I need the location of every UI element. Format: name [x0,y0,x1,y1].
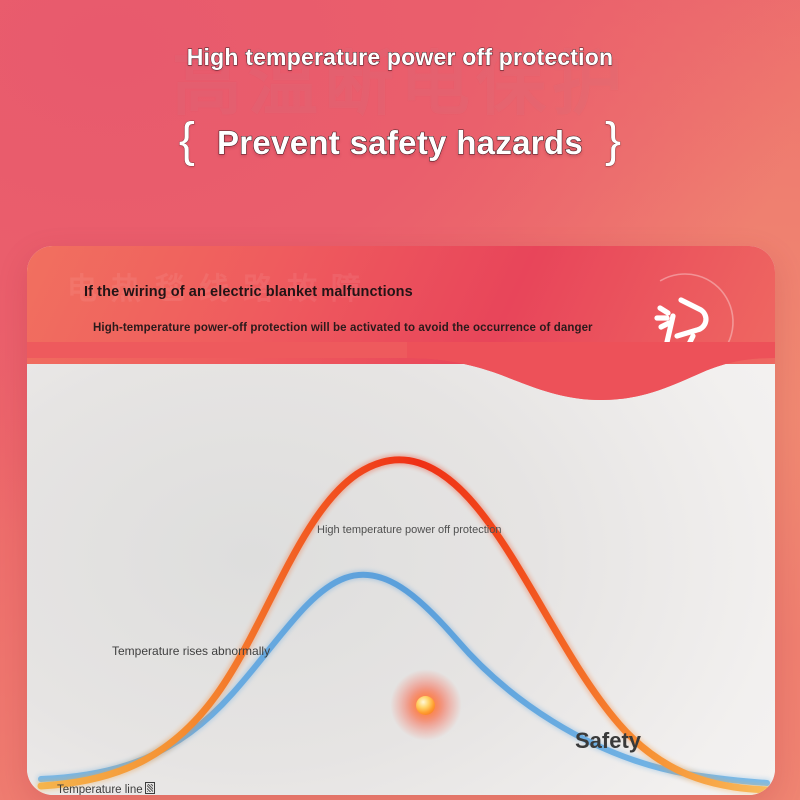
info-card: 电热毯线路故障 If the wiring of an electric bla… [27,246,775,795]
chart-panel: High temperature power off protection Te… [27,364,775,795]
safety-label: Safety [575,728,641,754]
right-brace: } [605,117,621,165]
series-label-temperature-line: Temperature line [57,782,155,795]
page-title: High temperature power off protection [0,44,800,71]
temperature-chart [27,364,775,795]
poster-stage: 高温断电保护 High temperature power off protec… [0,0,800,800]
left-brace: { [179,117,195,165]
card-heading: If the wiring of an electric blanket mal… [84,284,413,300]
hero-subtitle: Prevent safety hazards [217,124,583,162]
overheat-point-marker [416,696,435,715]
series-label-abnormal-rise: Temperature rises abnormally [112,644,270,658]
header-wave-divider [27,342,775,422]
hero-subtitle-row: { Prevent safety hazards } [0,119,800,167]
hero-section: High temperature power off protection { … [0,44,800,167]
abnormal-temperature-curve [41,460,767,790]
missing-glyph-box [145,782,155,794]
abnormal-temperature-curve-glow [41,460,767,790]
series-label-temperature-line-text: Temperature line [57,784,143,795]
chart-title: High temperature power off protection [317,524,501,536]
card-subheading: High-temperature power-off protection wi… [93,322,593,334]
